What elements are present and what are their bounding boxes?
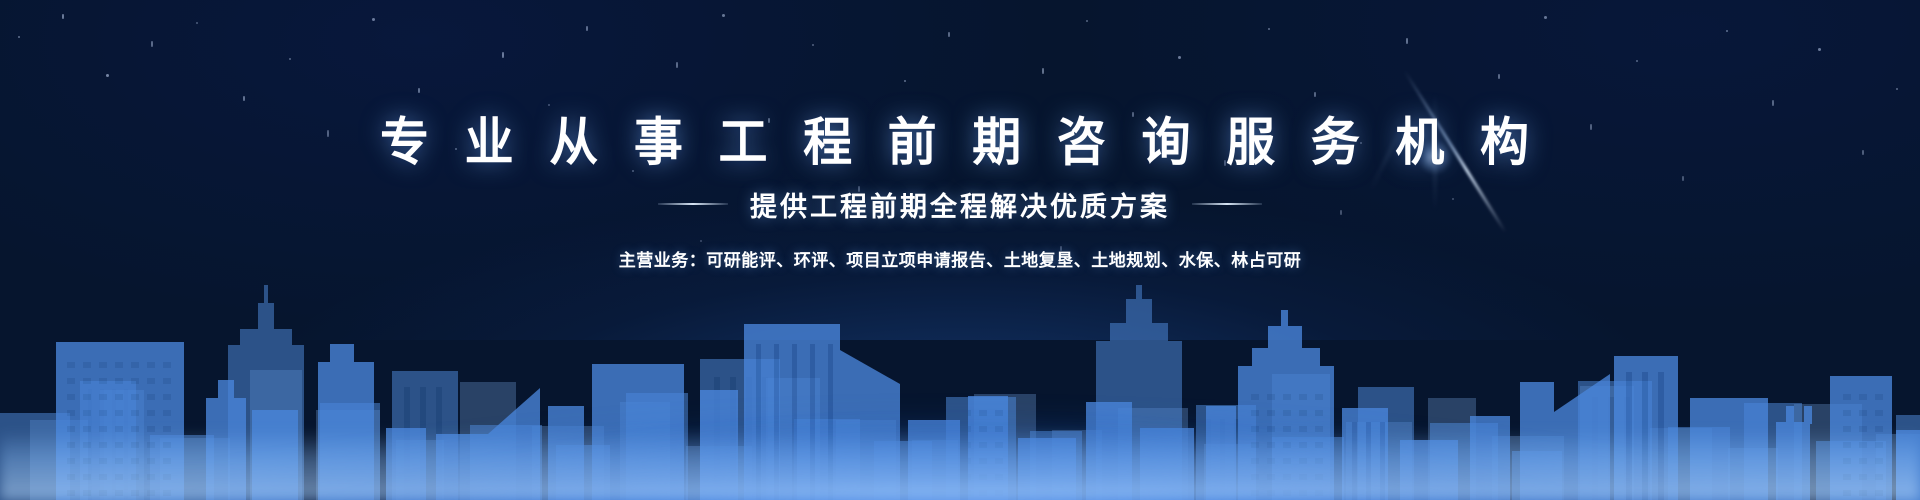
hero-banner: 专 业 从 事 工 程 前 期 咨 询 服 务 机 构 提供工程前期全程解决优质… bbox=[0, 0, 1920, 500]
banner-content: 专 业 从 事 工 程 前 期 咨 询 服 务 机 构 提供工程前期全程解决优质… bbox=[0, 0, 1920, 271]
horizon-glow-arc bbox=[0, 380, 1920, 500]
banner-subtitle: 提供工程前期全程解决优质方案 bbox=[750, 185, 1170, 224]
skyline-mid bbox=[0, 285, 1920, 500]
banner-subtitle-row: 提供工程前期全程解决优质方案 bbox=[0, 185, 1920, 224]
horizon-rim bbox=[0, 430, 1920, 500]
rule-right-icon bbox=[1192, 203, 1262, 205]
rule-left-icon bbox=[658, 203, 728, 205]
banner-services: 主营业务：可研能评、环评、项目立项申请报告、土地复垦、土地规划、水保、林占可研 bbox=[0, 246, 1920, 271]
skyline-far bbox=[0, 270, 1920, 500]
skyline-near bbox=[0, 310, 1920, 500]
banner-title: 专 业 从 事 工 程 前 期 咨 询 服 务 机 构 bbox=[0, 0, 1920, 173]
horizon-glow-core bbox=[77, 400, 1843, 500]
